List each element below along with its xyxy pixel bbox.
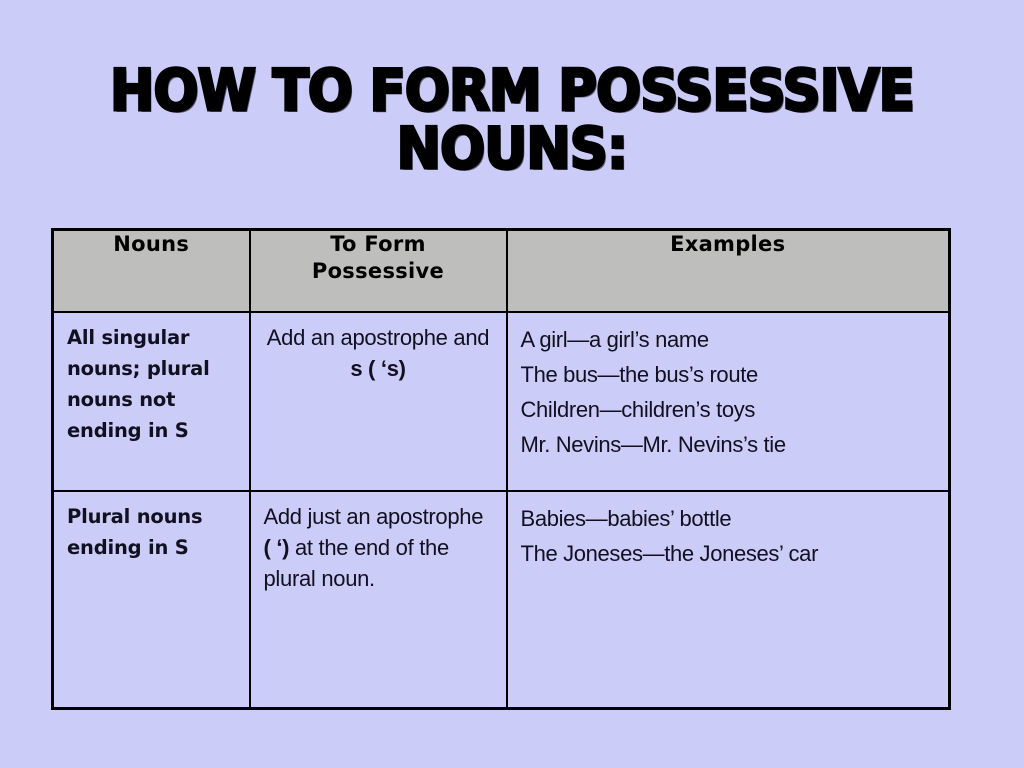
examples-list-1: A girl—a girl’s name The bus—the bus’s r… — [508, 313, 949, 472]
rule-plain-2: Add just an apostrophe — [264, 504, 484, 529]
noun-type-text-2: Plural nouns ending in S — [54, 492, 249, 573]
possessive-nouns-table: Nouns To Form Possessive Examples All si… — [51, 228, 951, 710]
cell-examples-1: A girl—a girl’s name The bus—the bus’s r… — [507, 312, 950, 491]
column-header-to-form-possessive-line1: To Form — [330, 232, 426, 256]
rule-plain-after-2: at the end of the plural noun. — [264, 535, 449, 591]
example-line: A girl—a girl’s name — [521, 322, 936, 357]
column-header-examples: Examples — [507, 230, 950, 313]
table-row: All singular nouns; plural nouns not end… — [53, 312, 950, 491]
rule-plain-1: Add an apostrophe and — [267, 325, 489, 350]
column-header-nouns: Nouns — [53, 230, 250, 313]
slide-title: How to Form Possessive Nouns: — [36, 62, 988, 178]
cell-rule-2: Add just an apostrophe ( ‘) at the end o… — [250, 491, 507, 709]
table-header-row: Nouns To Form Possessive Examples — [53, 230, 950, 313]
column-header-nouns-label: Nouns — [113, 232, 189, 256]
cell-examples-2: Babies—babies’ bottle The Joneses—the Jo… — [507, 491, 950, 709]
example-line: Babies—babies’ bottle — [521, 501, 936, 536]
rule-text-2: Add just an apostrophe ( ‘) at the end o… — [251, 492, 506, 604]
cell-noun-type-2: Plural nouns ending in S — [53, 491, 250, 709]
rule-bold-1: s ( ‘s) — [350, 356, 405, 381]
column-header-to-form-possessive: To Form Possessive — [250, 230, 507, 313]
cell-rule-1: Add an apostrophe and s ( ‘s) — [250, 312, 507, 491]
title-line-2: Nouns: — [36, 120, 988, 178]
title-line-1: How to Form Possessive — [36, 62, 988, 120]
table-row: Plural nouns ending in S Add just an apo… — [53, 491, 950, 709]
rule-text-1: Add an apostrophe and s ( ‘s) — [251, 313, 506, 394]
example-line: Mr. Nevins—Mr. Nevins’s tie — [521, 427, 936, 462]
example-line: The bus—the bus’s route — [521, 357, 936, 392]
noun-type-text-1: All singular nouns; plural nouns not end… — [54, 313, 249, 456]
rule-bold-2: ( ‘) — [264, 535, 290, 560]
examples-list-2: Babies—babies’ bottle The Joneses—the Jo… — [508, 492, 949, 581]
example-line: The Joneses—the Joneses’ car — [521, 536, 936, 571]
column-header-to-form-possessive-line2: Possessive — [312, 259, 444, 283]
example-line: Children—children’s toys — [521, 392, 936, 427]
cell-noun-type-1: All singular nouns; plural nouns not end… — [53, 312, 250, 491]
column-header-examples-label: Examples — [670, 232, 785, 256]
